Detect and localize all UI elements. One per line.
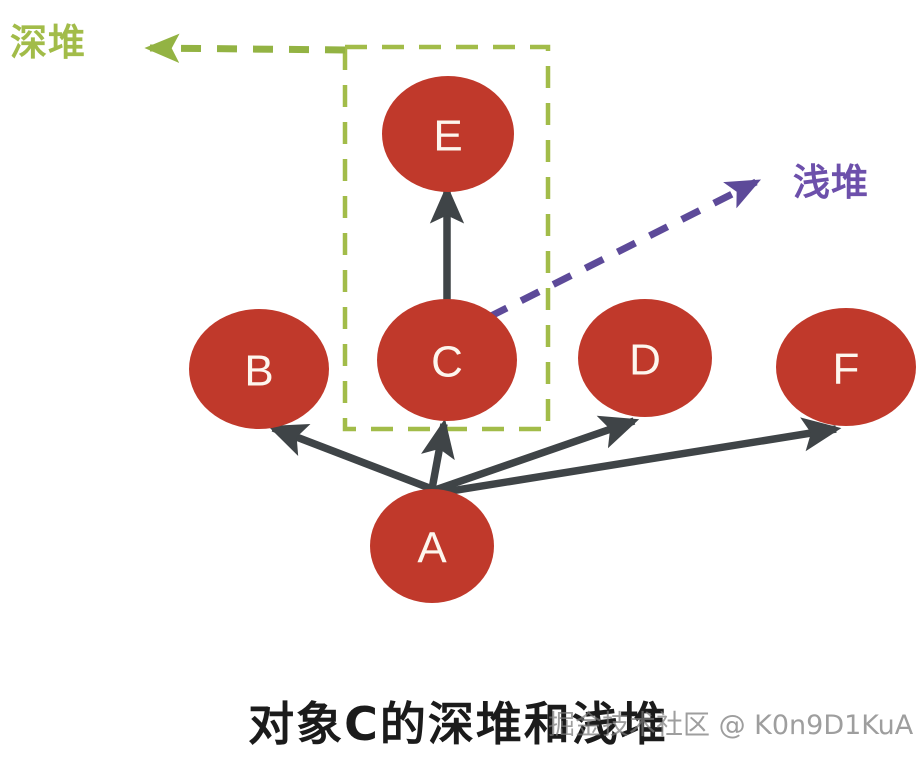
node-a[interactable]: A bbox=[370, 489, 494, 603]
node-e[interactable]: E bbox=[382, 76, 514, 192]
shallow-heap-label: 浅堆 bbox=[793, 152, 869, 206]
node-e-label: E bbox=[433, 112, 462, 161]
node-f-label: F bbox=[833, 345, 860, 394]
deep-heap-label: 深堆 bbox=[10, 12, 86, 66]
node-b-label: B bbox=[244, 347, 273, 396]
shallow-heap-annotation-arrow bbox=[489, 182, 756, 317]
watermark-text: 掘金技术社区 @ K0n9D1KuA bbox=[548, 703, 913, 742]
node-d[interactable]: D bbox=[578, 299, 712, 417]
node-c-label: C bbox=[431, 338, 463, 387]
edge-a-to-f bbox=[432, 429, 836, 494]
node-d-label: D bbox=[629, 336, 661, 385]
edge-a-to-c bbox=[432, 424, 444, 489]
deep-heap-annotation-arrow bbox=[150, 48, 345, 50]
object-graph-diagram: E B C D F A bbox=[0, 0, 916, 762]
node-c[interactable]: C bbox=[377, 299, 517, 421]
edge-a-to-b bbox=[273, 428, 432, 489]
node-f[interactable]: F bbox=[776, 308, 916, 426]
node-b[interactable]: B bbox=[189, 309, 329, 429]
diagram-canvas: E B C D F A 深堆 浅堆 对象C的深堆和浅堆 掘金技术社区 @ K0n… bbox=[0, 0, 916, 762]
node-a-label: A bbox=[417, 524, 447, 573]
